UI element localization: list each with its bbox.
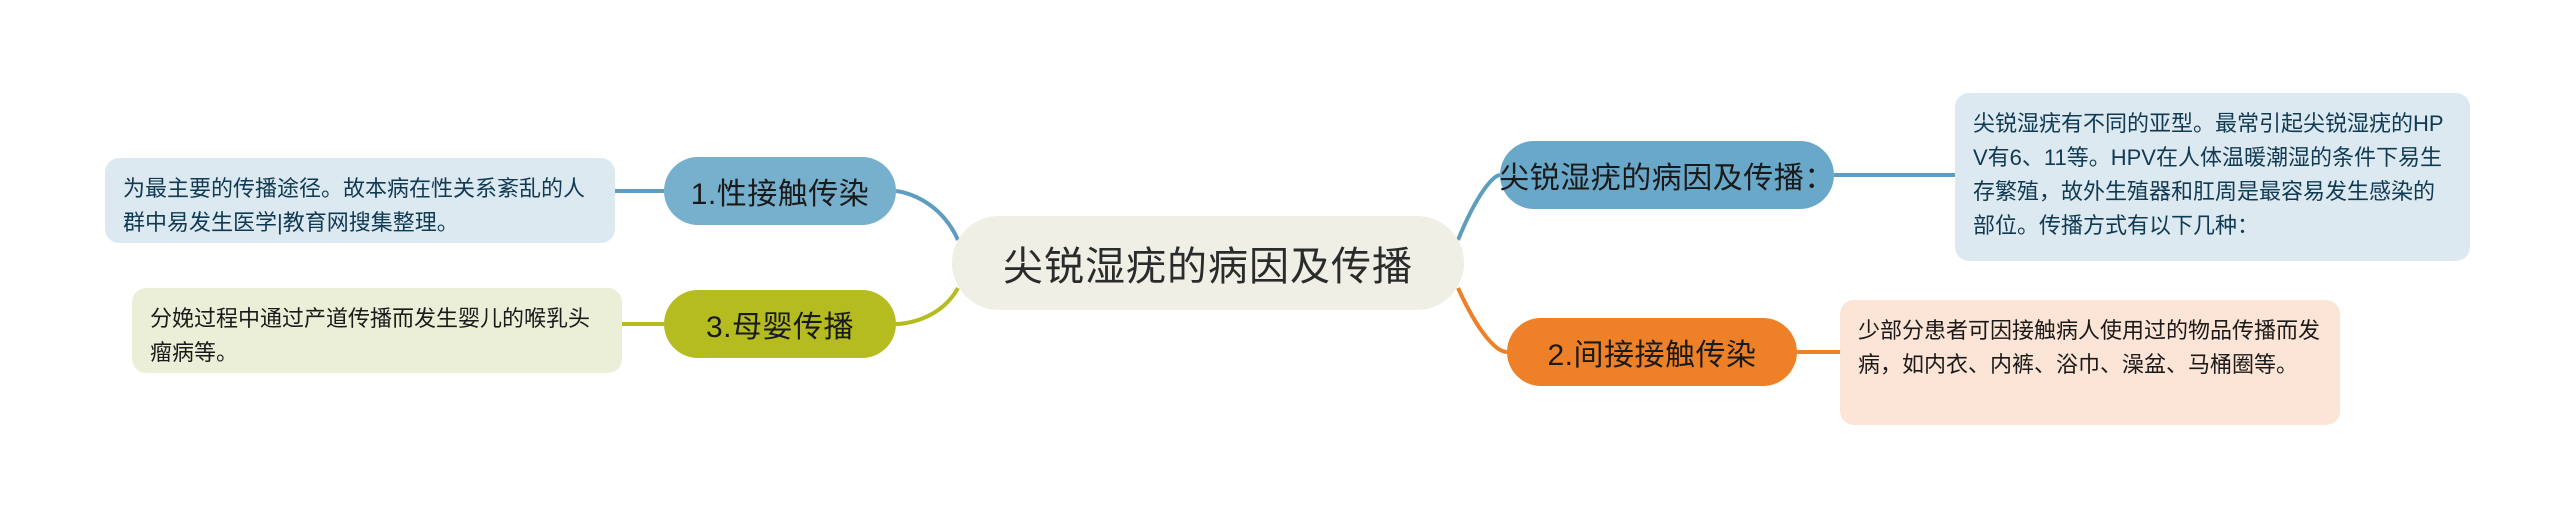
connector-center-to-sexual-contact	[896, 191, 958, 240]
detail-panel-mother-to-child[interactable]: 分娩过程中通过产道传播而发生婴儿的喉乳头瘤病等。	[132, 288, 622, 373]
branch-node-indirect-contact[interactable]: 2.间接接触传染	[1507, 318, 1797, 386]
branch-node-cause-and-spread[interactable]: 尖锐湿疣的病因及传播：	[1500, 141, 1834, 209]
connector-center-to-cause-and-spread	[1458, 175, 1500, 240]
detail-panel-indirect-contact[interactable]: 少部分患者可因接触病人使用过的物品传播而发病，如内衣、内裤、浴巾、澡盆、马桶圈等…	[1840, 300, 2340, 425]
central-topic-node[interactable]: 尖锐湿疣的病因及传播	[952, 216, 1464, 310]
connector-center-to-mother-to-child	[896, 288, 958, 324]
branch-node-sexual-contact[interactable]: 1.性接触传染	[664, 157, 896, 225]
detail-panel-sexual-contact[interactable]: 为最主要的传播途径。故本病在性关系紊乱的人群中易发生医学|教育网搜集整理。	[105, 158, 615, 243]
connector-center-to-indirect-contact	[1458, 288, 1507, 352]
branch-node-mother-to-child[interactable]: 3.母婴传播	[664, 290, 896, 358]
detail-panel-cause-and-spread[interactable]: 尖锐湿疣有不同的亚型。最常引起尖锐湿疣的HPV有6、11等。HPV在人体温暖潮湿…	[1955, 93, 2470, 261]
mindmap-canvas: 尖锐湿疣的病因及传播 1.性接触传染 为最主要的传播途径。故本病在性关系紊乱的人…	[0, 0, 2560, 521]
